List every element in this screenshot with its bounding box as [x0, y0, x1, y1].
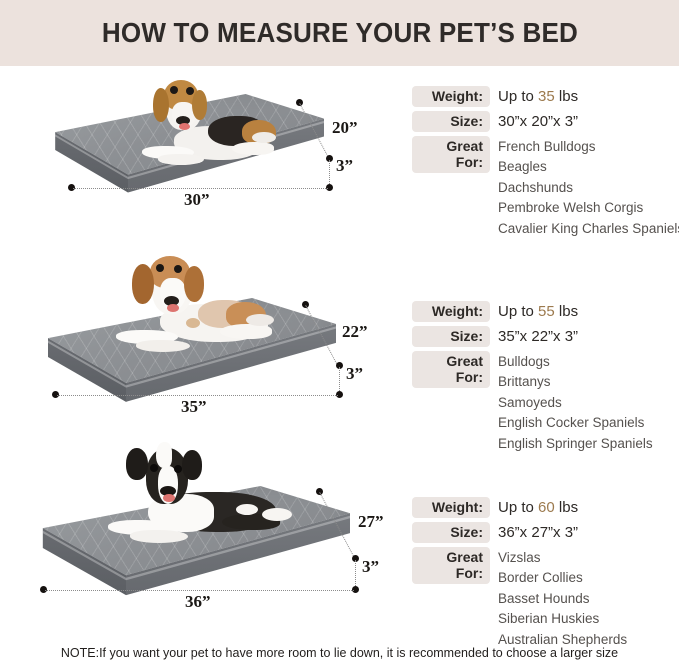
list-item: Samoyeds — [498, 393, 653, 414]
list-item: Beagles — [498, 157, 679, 178]
info-panel-small: Weight: Up to 35 lbs Size: 30”x 20”x 3” … — [412, 86, 679, 243]
footer-note: NOTE:If you want your pet to have more r… — [0, 646, 679, 660]
info-row-size: Size: 36”x 27”x 3” — [412, 522, 627, 543]
label-size: Size: — [412, 111, 490, 132]
info-row-breeds: Great For: French Bulldogs Beagles Dachs… — [412, 136, 679, 239]
dim-label-height: 3” — [336, 156, 353, 176]
list-item: Vizslas — [498, 547, 627, 568]
info-row-breeds: Great For: Vizslas Border Collies Basset… — [412, 547, 627, 650]
value-size: 36”x 27”x 3” — [498, 522, 578, 543]
dim-label-width: 36” — [185, 592, 211, 612]
breed-list: Bulldogs Brittanys Samoyeds English Cock… — [498, 351, 653, 454]
weight-unit: lbs — [559, 499, 578, 516]
list-item: Dachshunds — [498, 178, 679, 199]
label-great-for: Great For: — [412, 547, 490, 584]
value-size: 35”x 22”x 3” — [498, 326, 578, 347]
info-row-breeds: Great For: Bulldogs Brittanys Samoyeds E… — [412, 351, 653, 454]
weight-prefix: Up to — [498, 303, 534, 320]
dim-label-width: 30” — [184, 190, 210, 210]
dim-line-width — [57, 395, 338, 396]
list-item: Border Collies — [498, 568, 627, 589]
value-weight: Up to 60 lbs — [498, 497, 578, 518]
dog-brittany — [102, 256, 292, 368]
dim-label-width: 35” — [181, 397, 207, 417]
page-title: HOW TO MEASURE YOUR PET’S BED — [101, 17, 577, 49]
bed-illustration-medium: 22” 3” 35” — [36, 298, 336, 416]
list-item: Pembroke Welsh Corgis — [498, 198, 679, 219]
info-row-size: Size: 35”x 22”x 3” — [412, 326, 653, 347]
bed-row-large: 27” 3” 36” Weight: Up to 60 lbs Size: 36 — [0, 440, 679, 626]
header-banner: HOW TO MEASURE YOUR PET’S BED — [0, 0, 679, 66]
label-weight: Weight: — [412, 301, 490, 322]
info-panel-large: Weight: Up to 60 lbs Size: 36”x 27”x 3” … — [412, 497, 627, 654]
dim-label-height: 3” — [362, 557, 379, 577]
label-great-for: Great For: — [412, 351, 490, 388]
dog-border-collie — [96, 442, 306, 560]
weight-number: 55 — [538, 303, 555, 320]
list-item: Siberian Huskies — [498, 609, 627, 630]
list-item: French Bulldogs — [498, 136, 679, 157]
list-item: Bulldogs — [498, 351, 653, 372]
dog-beagle — [122, 80, 272, 176]
weight-unit: lbs — [559, 88, 578, 105]
breed-list: French Bulldogs Beagles Dachshunds Pembr… — [498, 136, 679, 239]
label-size: Size: — [412, 326, 490, 347]
info-panel-medium: Weight: Up to 55 lbs Size: 35”x 22”x 3” … — [412, 301, 653, 458]
info-row-weight: Weight: Up to 55 lbs — [412, 301, 653, 322]
dim-line-width — [73, 188, 328, 189]
label-weight: Weight: — [412, 86, 490, 107]
breed-list: Vizslas Border Collies Basset Hounds Sib… — [498, 547, 627, 650]
label-great-for: Great For: — [412, 136, 490, 173]
list-item: Brittanys — [498, 372, 653, 393]
weight-number: 35 — [538, 88, 555, 105]
list-item: English Cocker Spaniels — [498, 413, 653, 434]
weight-number: 60 — [538, 499, 555, 516]
dim-label-depth: 27” — [358, 512, 384, 532]
value-size: 30”x 20”x 3” — [498, 111, 578, 132]
label-size: Size: — [412, 522, 490, 543]
info-row-weight: Weight: Up to 35 lbs — [412, 86, 679, 107]
dim-line-width — [45, 590, 354, 591]
info-row-size: Size: 30”x 20”x 3” — [412, 111, 679, 132]
value-weight: Up to 55 lbs — [498, 301, 578, 322]
list-item: Cavalier King Charles Spaniels — [498, 219, 679, 240]
dim-label-depth: 22” — [342, 322, 368, 342]
weight-prefix: Up to — [498, 88, 534, 105]
dim-label-depth: 20” — [332, 118, 358, 138]
bed-row-medium: 22” 3” 35” Weight: Up to 55 lbs Size: 35 — [0, 258, 679, 434]
value-weight: Up to 35 lbs — [498, 86, 578, 107]
bed-illustration-large: 27” 3” 36” — [30, 486, 350, 610]
bed-row-small: 20” 3” 30” Weight: Up to 35 lbs Size: 30 — [0, 78, 679, 248]
weight-unit: lbs — [559, 303, 578, 320]
info-row-weight: Weight: Up to 60 lbs — [412, 497, 627, 518]
dim-label-height: 3” — [346, 364, 363, 384]
infographic-page: HOW TO MEASURE YOUR PET’S BED — [0, 0, 679, 668]
weight-prefix: Up to — [498, 499, 534, 516]
bed-illustration-small: 20” 3” 30” — [44, 94, 324, 206]
list-item: Basset Hounds — [498, 589, 627, 610]
label-weight: Weight: — [412, 497, 490, 518]
